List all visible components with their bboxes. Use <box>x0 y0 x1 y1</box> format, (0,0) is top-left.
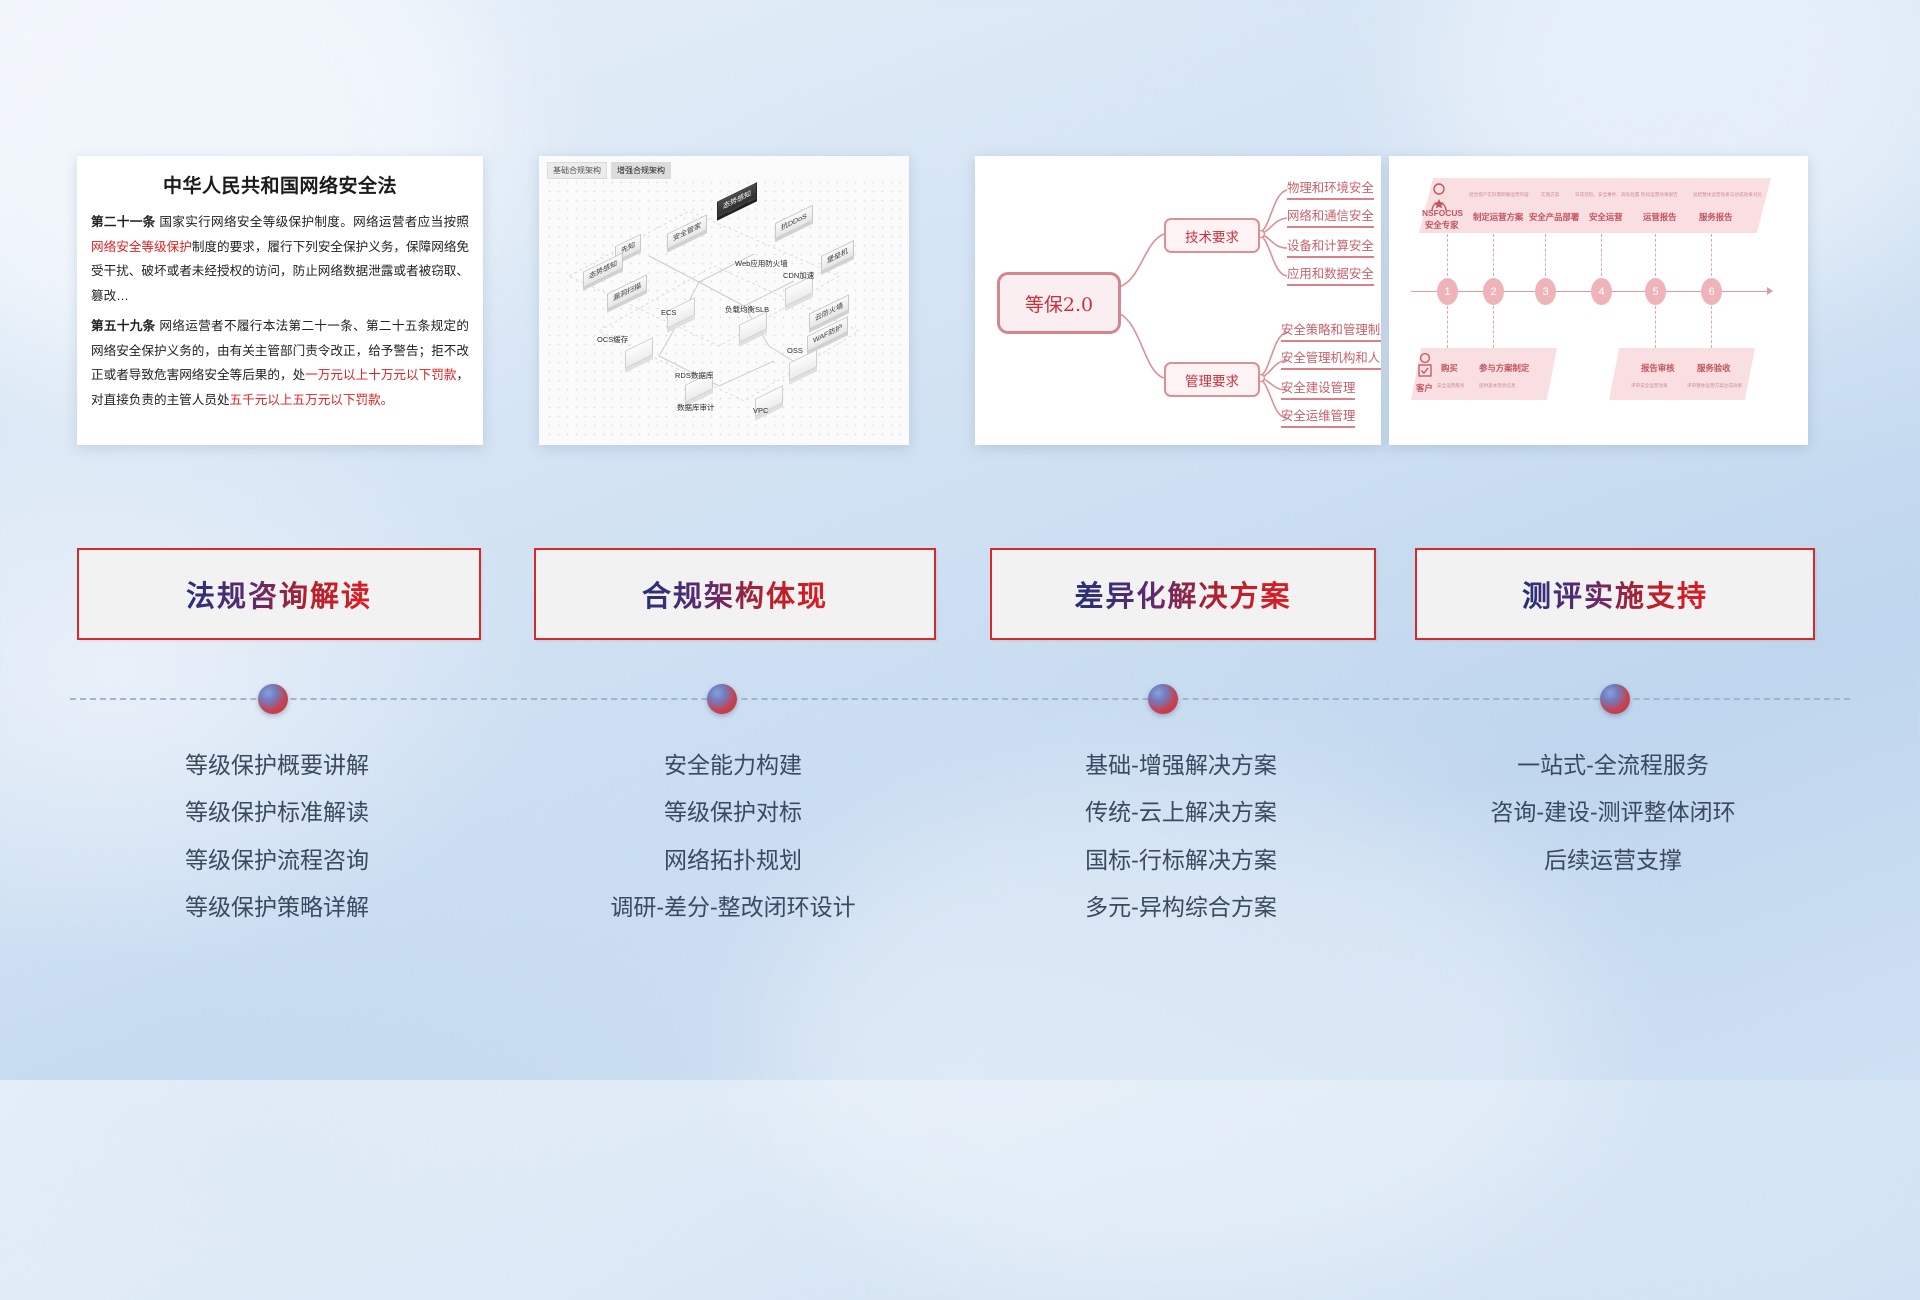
list-item: 基础-增强解决方案 <box>990 742 1372 789</box>
list-item: 安全能力构建 <box>534 742 932 789</box>
section-title-4: 测评实施支持 <box>1522 573 1708 615</box>
list-item: 咨询-建设-测评整体闭环 <box>1415 789 1811 836</box>
list-item: 多元-异构综合方案 <box>990 884 1372 931</box>
list-item: 网络拓扑规划 <box>534 837 932 884</box>
list-item: 后续运营支撑 <box>1415 837 1811 884</box>
section-title-row: 法规咨询解读 合规架构体现 差异化解决方案 测评实施支持 等级保护概要讲解 等级… <box>0 0 1920 1080</box>
section-list-2: 安全能力构建 等级保护对标 网络拓扑规划 调研-差分-整改闭环设计 <box>534 742 932 932</box>
timeline-dot-1[interactable] <box>258 684 288 714</box>
list-item: 调研-差分-整改闭环设计 <box>534 884 932 931</box>
section-title-3: 差异化解决方案 <box>1074 573 1291 615</box>
slide-stage: 中华人民共和国网络安全法 第二十一条 国家实行网络安全等级保护制度。网络运营者应… <box>0 0 1920 1080</box>
list-item: 传统-云上解决方案 <box>990 789 1372 836</box>
section-title-1: 法规咨询解读 <box>186 573 372 615</box>
section-title-box-3[interactable]: 差异化解决方案 <box>990 548 1376 640</box>
timeline-dot-3[interactable] <box>1148 684 1178 714</box>
list-item: 等级保护标准解读 <box>77 789 477 836</box>
timeline-dot-2[interactable] <box>707 684 737 714</box>
section-title-box-4[interactable]: 测评实施支持 <box>1415 548 1815 640</box>
section-title-box-2[interactable]: 合规架构体现 <box>534 548 936 640</box>
list-item: 国标-行标解决方案 <box>990 837 1372 884</box>
list-item: 一站式-全流程服务 <box>1415 742 1811 789</box>
list-item: 等级保护概要讲解 <box>77 742 477 789</box>
list-item: 等级保护策略详解 <box>77 884 477 931</box>
list-item: 等级保护对标 <box>534 789 932 836</box>
timeline-dashed-line <box>70 698 1850 702</box>
list-item: 等级保护流程咨询 <box>77 837 477 884</box>
section-title-2: 合规架构体现 <box>642 573 828 615</box>
section-list-4: 一站式-全流程服务 咨询-建设-测评整体闭环 后续运营支撑 <box>1415 742 1811 884</box>
section-title-box-1[interactable]: 法规咨询解读 <box>77 548 481 640</box>
timeline-dot-4[interactable] <box>1600 684 1630 714</box>
section-list-3: 基础-增强解决方案 传统-云上解决方案 国标-行标解决方案 多元-异构综合方案 <box>990 742 1372 932</box>
section-list-1: 等级保护概要讲解 等级保护标准解读 等级保护流程咨询 等级保护策略详解 <box>77 742 477 932</box>
